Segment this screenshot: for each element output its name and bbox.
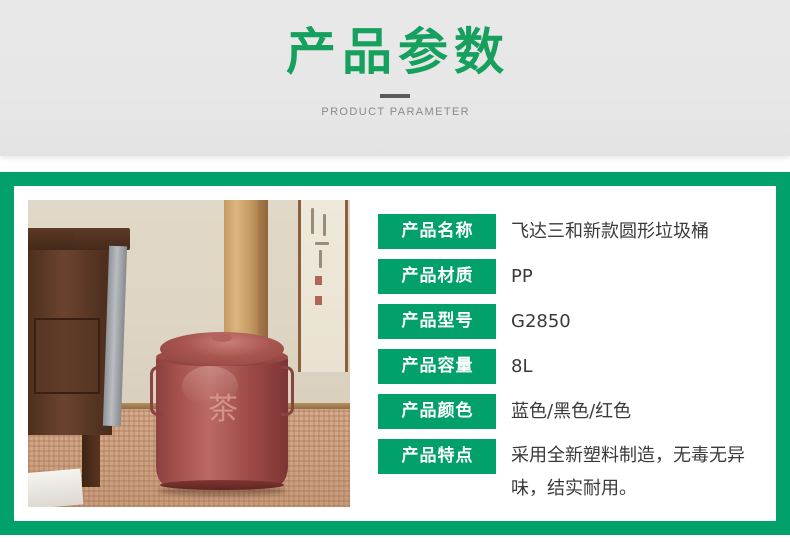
scroll-stroke [311, 208, 314, 234]
bucket-calligraphy-char: 茶 [206, 390, 240, 430]
photo-books [28, 468, 83, 507]
table-row: 产品容量 8L [378, 349, 762, 384]
spec-label-features: 产品特点 [378, 439, 496, 474]
bucket-handle-right [281, 366, 294, 416]
photo-table-leg [82, 435, 100, 487]
scroll-seal [315, 296, 322, 305]
spec-value-product-name: 飞达三和新款圆形垃圾桶 [496, 214, 762, 249]
spec-table: 产品名称 飞达三和新款圆形垃圾桶 产品材质 PP 产品型号 G2850 产品容量… [350, 200, 762, 515]
title-divider [380, 94, 410, 98]
spec-value-capacity: 8L [496, 349, 762, 384]
page-header: 产品参数 PRODUCT PARAMETER [0, 0, 790, 156]
scroll-stroke [319, 250, 322, 268]
bucket-lid-knob [212, 334, 232, 342]
spec-label-model: 产品型号 [378, 304, 496, 339]
page-title: 产品参数 [280, 22, 510, 82]
spec-label-color: 产品颜色 [378, 394, 496, 429]
spec-label-capacity: 产品容量 [378, 349, 496, 384]
photo-cabinet-panel [34, 318, 100, 394]
bucket-base [160, 480, 284, 490]
scroll-stroke [315, 242, 329, 245]
page-subtitle: PRODUCT PARAMETER [320, 105, 470, 119]
table-row: 产品特点 采用全新塑料制造，无毒无异味，结实耐用。 [378, 439, 762, 505]
bucket-handle-left [150, 366, 163, 416]
photo-hanging-scroll [298, 200, 348, 372]
table-row: 产品颜色 蓝色/黑色/红色 [378, 394, 762, 429]
spec-value-features: 采用全新塑料制造，无毒无异味，结实耐用。 [496, 439, 762, 505]
spec-label-product-name: 产品名称 [378, 214, 496, 249]
spec-value-color: 蓝色/黑色/红色 [496, 394, 762, 429]
spec-label-material: 产品材质 [378, 259, 496, 294]
spec-value-material: PP [496, 259, 762, 294]
table-row: 产品材质 PP [378, 259, 762, 294]
card-inner: 茶 产品名称 飞达三和新款圆形垃圾桶 产品材质 PP 产品型号 G2850 产品… [14, 186, 776, 521]
photo-trash-bucket: 茶 [156, 332, 288, 492]
spec-value-model: G2850 [496, 304, 762, 339]
scroll-seal [315, 276, 322, 285]
table-row: 产品名称 飞达三和新款圆形垃圾桶 [378, 214, 762, 249]
product-photo: 茶 [28, 200, 350, 507]
product-parameter-card: 茶 产品名称 飞达三和新款圆形垃圾桶 产品材质 PP 产品型号 G2850 产品… [0, 172, 790, 535]
scroll-stroke [323, 214, 326, 236]
table-row: 产品型号 G2850 [378, 304, 762, 339]
